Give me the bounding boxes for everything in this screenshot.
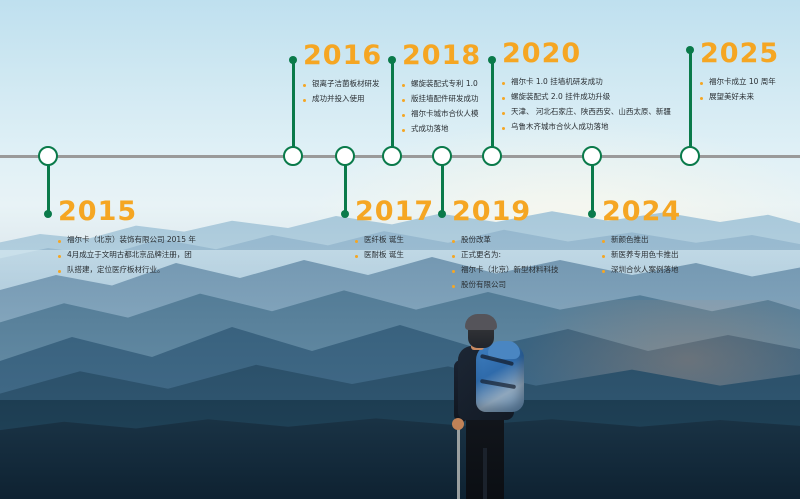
year-label-2018: 2018 xyxy=(402,42,502,69)
bullet-list-2020: 福尔卡 1.0 挂墙机研发成功 螺旋装配式 2.0 挂件成功升级 天津、 河北石… xyxy=(502,76,687,134)
bullet-text: 福尔卡（北京）装饰有限公司 2015 年 xyxy=(67,234,218,246)
timeline-dot-2016[interactable] xyxy=(283,146,303,166)
bullet-text: 医耐板 诞生 xyxy=(364,249,455,261)
stem-cap-2024 xyxy=(588,210,596,218)
bullet-text: 螺旋装配式 2.0 挂件成功升级 xyxy=(511,91,687,103)
bullet-item: 版挂墙配件研发成功 xyxy=(402,93,502,105)
stem-2020 xyxy=(491,60,494,152)
bullet-list-2019: 股份改革 正式更名为: 福尔卡（北京）新型材料科技 股份有限公司 xyxy=(452,234,572,292)
bullet-text: 新医养专用色卡推出 xyxy=(611,249,712,261)
bullet-item: 深圳合伙人案例落地 xyxy=(602,264,712,276)
hiker-leg-gap xyxy=(483,448,487,499)
year-label-2020: 2020 xyxy=(502,40,687,67)
timeline-dot-2025[interactable] xyxy=(680,146,700,166)
bullet-item: 成功并投入使用 xyxy=(303,93,403,105)
bullet-list-2018: 螺旋装配式专利 1.0 版挂墙配件研发成功 福尔卡城市合伙人模 式成功落地 xyxy=(402,78,502,136)
bullet-text: 福尔卡 1.0 挂墙机研发成功 xyxy=(511,76,687,88)
year-label-2025: 2025 xyxy=(700,40,800,67)
bullet-text: 福尔卡成立 10 周年 xyxy=(709,76,800,88)
stem-2015 xyxy=(47,158,50,214)
bullet-text: 式成功落地 xyxy=(411,123,502,135)
bullet-list-2025: 福尔卡成立 10 周年 展望美好未来 xyxy=(700,76,800,103)
bullet-list-2015: 福尔卡（北京）装饰有限公司 2015 年 4月成立于文明古都北京品牌注册，团 队… xyxy=(58,234,218,276)
timeline-dot-2018[interactable] xyxy=(382,146,402,166)
bullet-item: 4月成立于文明古都北京品牌注册，团 xyxy=(58,249,218,261)
bullet-item: 乌鲁木齐城市合伙人成功落地 xyxy=(502,121,687,133)
stem-cap-2019 xyxy=(438,210,446,218)
bullet-text: 队搭建，定位医疗板材行业。 xyxy=(67,264,218,276)
stem-2016 xyxy=(292,60,295,152)
year-label-2019: 2019 xyxy=(452,198,572,225)
bullet-item: 医纤板 诞生 xyxy=(355,234,455,246)
bullet-item: 螺旋装配式专利 1.0 xyxy=(402,78,502,90)
bullet-text: 4月成立于文明古都北京品牌注册，团 xyxy=(67,249,218,261)
stem-2017 xyxy=(344,158,347,214)
timeline-dot-2020[interactable] xyxy=(482,146,502,166)
bullet-item: 新颜色推出 xyxy=(602,234,712,246)
stem-cap-2018 xyxy=(388,56,396,64)
bullet-item: 医耐板 诞生 xyxy=(355,249,455,261)
bullet-item: 天津、 河北石家庄、陕西西安、山西太原、新疆 xyxy=(502,106,687,118)
stem-cap-2020 xyxy=(488,56,496,64)
bullet-text: 股份有限公司 xyxy=(461,279,572,291)
bullet-text: 福尔卡城市合伙人模 xyxy=(411,108,502,120)
bullet-item: 银离子洁菌板材研发 xyxy=(303,78,403,90)
bullet-text: 深圳合伙人案例落地 xyxy=(611,264,712,276)
bullet-text: 乌鲁木齐城市合伙人成功落地 xyxy=(511,121,687,133)
bullet-text: 银离子洁菌板材研发 xyxy=(312,78,403,90)
bullet-text: 医纤板 诞生 xyxy=(364,234,455,246)
bullet-item: 正式更名为: xyxy=(452,249,572,261)
bullet-item: 展望美好未来 xyxy=(700,91,800,103)
stem-cap-2025 xyxy=(686,46,694,54)
stem-2018 xyxy=(391,60,394,152)
stem-2024 xyxy=(591,158,594,214)
bullet-item: 福尔卡（北京）新型材料科技 xyxy=(452,264,572,276)
bullet-list-2016: 银离子洁菌板材研发 成功并投入使用 xyxy=(303,78,403,105)
bullet-text: 新颜色推出 xyxy=(611,234,712,246)
bullet-item: 新医养专用色卡推出 xyxy=(602,249,712,261)
timeline-dot-2019[interactable] xyxy=(432,146,452,166)
stem-2019 xyxy=(441,158,444,214)
bullet-text: 股份改革 xyxy=(461,234,572,246)
hiker-figure xyxy=(430,308,550,499)
bullet-list-2024: 新颜色推出 新医养专用色卡推出 深圳合伙人案例落地 xyxy=(602,234,712,276)
bullet-item: 股份改革 xyxy=(452,234,572,246)
bullet-text: 成功并投入使用 xyxy=(312,93,403,105)
hiker-hand xyxy=(452,418,464,430)
year-label-2016: 2016 xyxy=(303,42,403,69)
timeline-poster: 2016 银离子洁菌板材研发 成功并投入使用 2018 螺旋装配式专利 1.0 … xyxy=(0,0,800,499)
bullet-text: 螺旋装配式专利 1.0 xyxy=(411,78,502,90)
year-label-2024: 2024 xyxy=(602,198,712,225)
bullet-list-2017: 医纤板 诞生 医耐板 诞生 xyxy=(355,234,455,261)
hiker-hat xyxy=(465,314,497,330)
bullet-item: 福尔卡（北京）装饰有限公司 2015 年 xyxy=(58,234,218,246)
timeline-dot-2015[interactable] xyxy=(38,146,58,166)
foreground-ridge xyxy=(0,415,800,499)
bullet-item: 螺旋装配式 2.0 挂件成功升级 xyxy=(502,91,687,103)
bullet-item: 式成功落地 xyxy=(402,123,502,135)
bullet-item: 股份有限公司 xyxy=(452,279,572,291)
bullet-text: 展望美好未来 xyxy=(709,91,800,103)
timeline-dot-2017[interactable] xyxy=(335,146,355,166)
stem-cap-2015 xyxy=(44,210,52,218)
bullet-text: 福尔卡（北京）新型材料科技 xyxy=(461,264,572,276)
bullet-text: 正式更名为: xyxy=(461,249,572,261)
stem-cap-2017 xyxy=(341,210,349,218)
stem-2025 xyxy=(689,50,692,152)
bullet-text: 版挂墙配件研发成功 xyxy=(411,93,502,105)
bullet-item: 队搭建，定位医疗板材行业。 xyxy=(58,264,218,276)
bullet-text: 天津、 河北石家庄、陕西西安、山西太原、新疆 xyxy=(511,106,687,118)
timeline-dot-2024[interactable] xyxy=(582,146,602,166)
bullet-item: 福尔卡城市合伙人模 xyxy=(402,108,502,120)
stem-cap-2016 xyxy=(289,56,297,64)
trekking-pole xyxy=(457,426,460,499)
bullet-item: 福尔卡成立 10 周年 xyxy=(700,76,800,88)
bullet-item: 福尔卡 1.0 挂墙机研发成功 xyxy=(502,76,687,88)
year-label-2015: 2015 xyxy=(58,198,218,225)
